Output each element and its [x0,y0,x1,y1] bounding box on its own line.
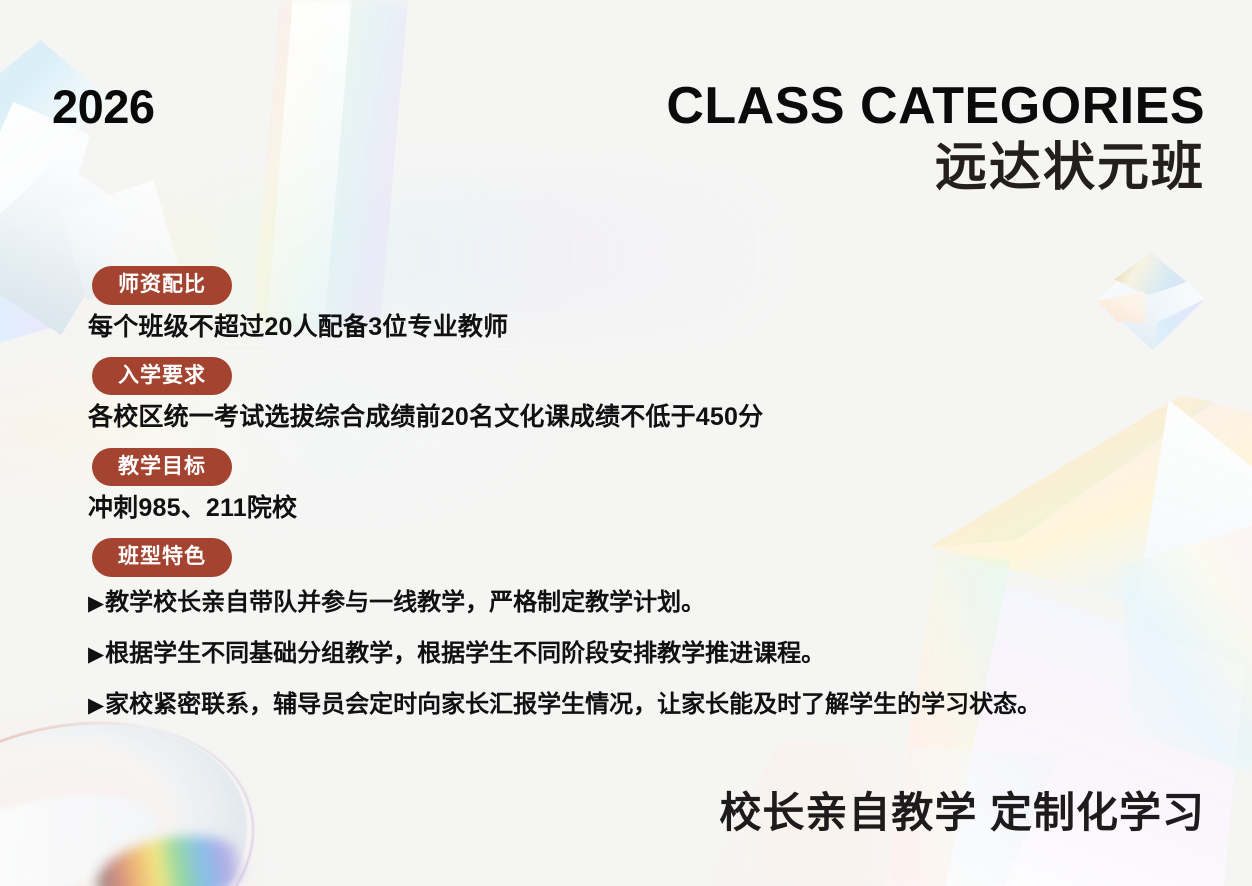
list-item: ▶ 教学校长亲自带队并参与一线教学，严格制定教学计划。 [88,588,1192,618]
poster-header: CLASS CATEGORIES 远达状元班 [666,78,1205,197]
feature-bullet-list: ▶ 教学校长亲自带队并参与一线教学，严格制定教学计划。 ▶ 根据学生不同基础分组… [88,588,1192,720]
page-title-en: CLASS CATEGORIES [666,78,1205,134]
list-item-label: 家校紧密联系，辅导员会定时向家长汇报学生情况，让家长能及时了解学生的学习状态。 [105,690,1041,720]
section-admission-requirement: 入学要求 各校区统一考试选拔综合成绩前20名文化课成绩不低于450分 [92,357,1192,434]
triangle-right-icon: ▶ [88,644,104,665]
section-teaching-goal: 教学目标 冲刺985、211院校 [92,448,1192,525]
badge-teaching-goal: 教学目标 [92,448,232,487]
list-item: ▶ 根据学生不同基础分组教学，根据学生不同阶段安排教学推进课程。 [88,639,1192,669]
triangle-right-icon: ▶ [88,593,104,614]
sections-list: 师资配比 每个班级不超过20人配备3位专业教师 入学要求 各校区统一考试选拔综合… [92,266,1192,720]
badge-admission-requirement: 入学要求 [92,357,232,396]
section-class-features: 班型特色 ▶ 教学校长亲自带队并参与一线教学，严格制定教学计划。 ▶ 根据学生不… [92,538,1192,720]
page-title-cn: 远达状元班 [666,140,1205,197]
section-text-admission-requirement: 各校区统一考试选拔综合成绩前20名文化课成绩不低于450分 [88,402,1192,433]
badge-teacher-ratio: 师资配比 [92,266,232,305]
list-item-label: 根据学生不同基础分组教学，根据学生不同阶段安排教学推进课程。 [105,639,825,669]
poster-canvas: 2026 CLASS CATEGORIES 远达状元班 师资配比 每个班级不超过… [0,0,1252,886]
section-text-teacher-ratio: 每个班级不超过20人配备3位专业教师 [88,312,1192,343]
section-teacher-ratio: 师资配比 每个班级不超过20人配备3位专业教师 [92,266,1192,343]
section-text-teaching-goal: 冲刺985、211院校 [88,493,1192,524]
footer-tagline: 校长亲自教学 定制化学习 [719,779,1205,840]
list-item: ▶ 家校紧密联系，辅导员会定时向家长汇报学生情况，让家长能及时了解学生的学习状态… [88,690,1192,720]
year-label: 2026 [52,79,155,134]
poster-content: 2026 CLASS CATEGORIES 远达状元班 师资配比 每个班级不超过… [0,0,1252,886]
triangle-right-icon: ▶ [88,695,104,716]
list-item-label: 教学校长亲自带队并参与一线教学，严格制定教学计划。 [105,588,705,618]
badge-class-features: 班型特色 [92,538,232,577]
